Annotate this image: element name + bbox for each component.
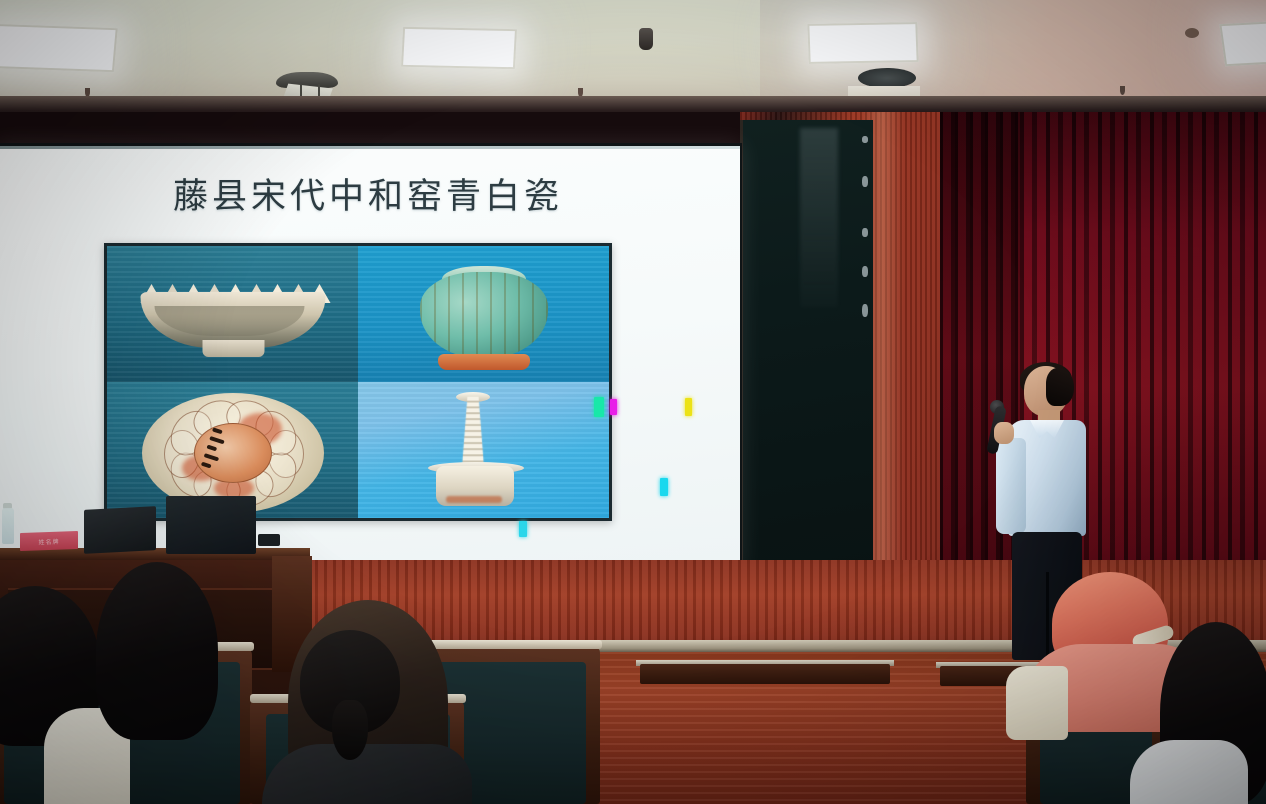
ceiling-projector-icon xyxy=(276,72,338,88)
nameplate: 姓名牌 xyxy=(20,531,78,551)
glitch-cyan xyxy=(660,478,668,496)
laptop-primary[interactable] xyxy=(84,506,156,554)
blackboard-glare xyxy=(800,128,838,308)
projection-screen[interactable]: 藤县宋代中和窑青白瓷 xyxy=(0,146,740,568)
ceiling xyxy=(0,0,1266,108)
glitch-yellow xyxy=(685,398,692,416)
ceiling-light-panel-3 xyxy=(807,22,918,64)
ceiling-sprinkler-3 xyxy=(1120,86,1125,95)
water-bottle xyxy=(2,508,14,544)
jar-body xyxy=(420,272,548,358)
slide-image-lotus-bowl xyxy=(107,246,358,382)
slide-image-candlestick xyxy=(358,382,609,518)
attendee-right-shoulder xyxy=(1130,740,1248,804)
ceiling-fixture-small xyxy=(1185,28,1199,38)
jar-foot-ring xyxy=(438,354,530,370)
ceiling-light-panel-4 xyxy=(1219,20,1266,66)
ceiling-light-panel-1 xyxy=(0,24,118,72)
blackboard-reflections xyxy=(862,136,868,436)
pink-hood-cream-sleeve xyxy=(1006,666,1068,740)
attendee-ponytail xyxy=(332,700,368,760)
glitch-green xyxy=(594,397,604,417)
desk-object xyxy=(258,534,280,546)
ceiling-speaker-horn-icon xyxy=(858,68,916,88)
candlestick-base-stain xyxy=(446,496,502,503)
artifact-melon-jar-icon xyxy=(416,258,552,376)
screen-top-edge xyxy=(0,146,740,149)
glitch-magenta xyxy=(610,399,617,415)
candlestick-stem xyxy=(460,397,487,469)
presenter-hair-back xyxy=(1046,368,1074,406)
slide-title: 藤县宋代中和窑青白瓷 xyxy=(0,168,740,219)
lecture-hall-photo: 藤县宋代中和窑青白瓷 xyxy=(0,0,1266,804)
attendee-center-shoulder xyxy=(262,744,472,804)
artifact-lotus-bowl-icon xyxy=(140,280,325,358)
ceiling-camera-icon xyxy=(639,28,653,50)
slide-image-grid xyxy=(104,243,612,521)
attendee-left-hair xyxy=(96,562,218,740)
seat-cap-3 xyxy=(418,640,602,649)
artifact-lotus-lid-icon xyxy=(142,393,324,513)
nameplate-label: 姓名牌 xyxy=(38,536,59,546)
bowl-foot-ring xyxy=(202,340,264,357)
laptop-secondary[interactable] xyxy=(166,496,256,554)
audience-desk-1 xyxy=(640,664,890,684)
ceiling-light-panel-2 xyxy=(401,27,517,69)
glitch-cyan-2 xyxy=(519,521,527,537)
artifact-candlestick-icon xyxy=(424,396,532,518)
presenter-hand xyxy=(994,422,1014,444)
presenter-arm xyxy=(996,438,1026,534)
slide-image-ribbed-jar xyxy=(358,246,609,382)
ceiling-warm-wash xyxy=(860,0,1266,108)
